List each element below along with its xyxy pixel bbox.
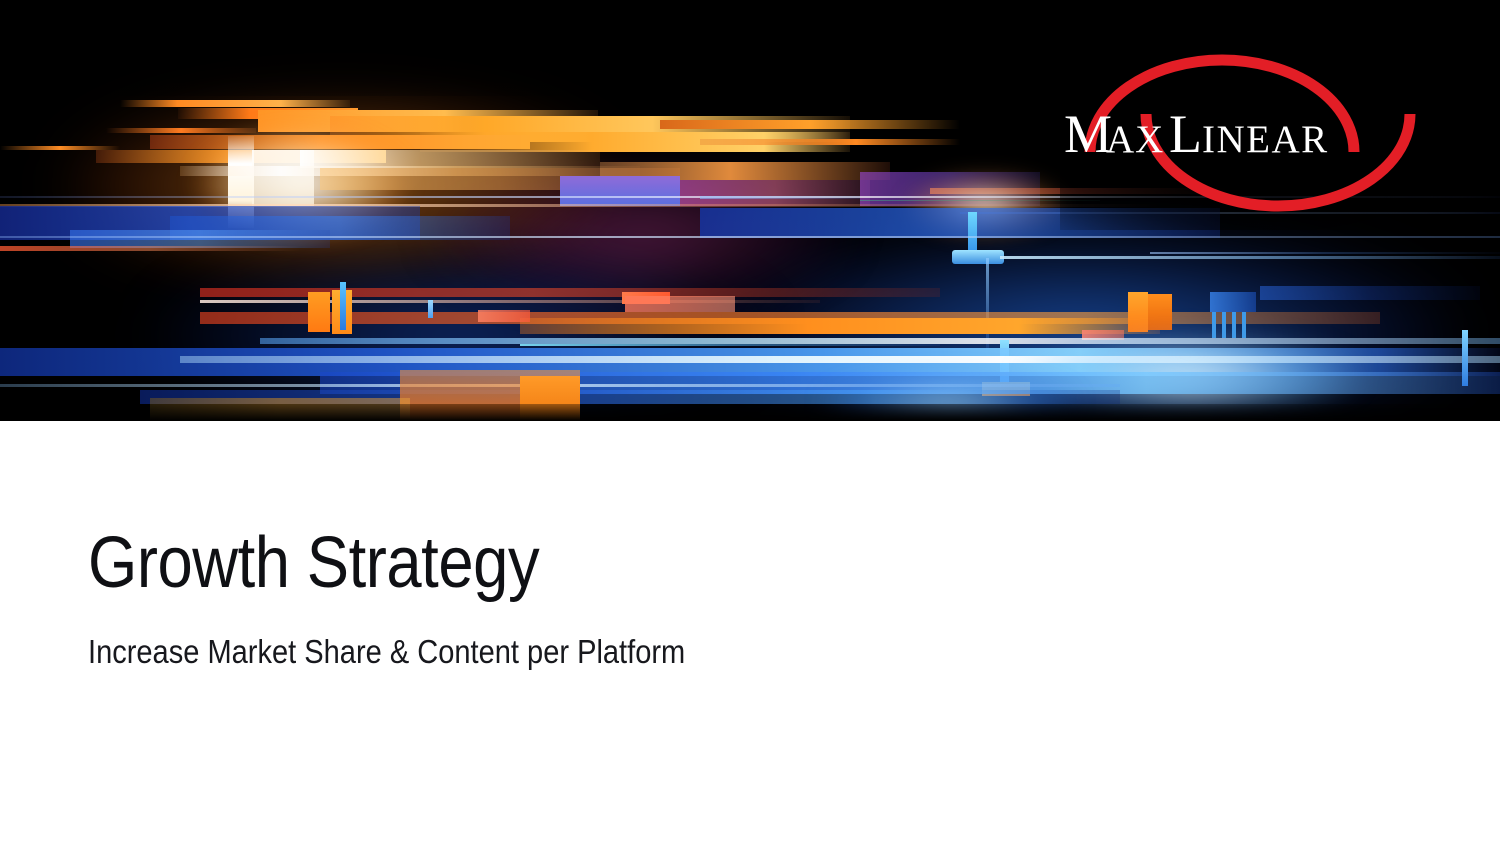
streak xyxy=(150,135,530,149)
streak xyxy=(140,390,1120,404)
streak xyxy=(308,292,330,332)
streak xyxy=(1222,312,1226,338)
glow-hotspot-core xyxy=(196,128,406,238)
streak xyxy=(0,384,1120,387)
streak xyxy=(252,150,314,206)
streak xyxy=(258,110,598,132)
streak xyxy=(0,404,1500,421)
streak xyxy=(1242,312,1246,338)
streak xyxy=(680,180,870,206)
glow-blue-right xyxy=(700,230,1460,421)
streak xyxy=(1210,292,1256,312)
glow-magenta xyxy=(430,170,850,300)
streak xyxy=(228,136,254,228)
streak xyxy=(0,348,1500,376)
streak xyxy=(1260,286,1480,300)
streak xyxy=(1150,252,1500,254)
page-title: Growth Strategy xyxy=(88,521,1144,605)
streak xyxy=(170,216,510,240)
streak xyxy=(1462,330,1468,386)
streak xyxy=(332,290,352,334)
streak xyxy=(200,300,820,303)
glow-cyan-low xyxy=(820,374,1080,421)
streak xyxy=(700,196,860,199)
streak xyxy=(320,168,680,190)
streak xyxy=(1232,312,1236,338)
streak xyxy=(106,128,256,133)
page-subtitle: Increase Market Share & Content per Plat… xyxy=(88,605,1144,673)
streak xyxy=(320,372,1500,394)
streak xyxy=(520,318,1160,334)
glow-cyan-bright xyxy=(1020,336,1360,416)
streak xyxy=(180,166,640,176)
streak xyxy=(1000,340,1009,382)
streak xyxy=(0,206,420,240)
streak xyxy=(700,139,960,145)
streak xyxy=(300,150,600,168)
glow-hotspot-right xyxy=(900,170,1070,240)
streak xyxy=(180,356,1500,363)
streak xyxy=(986,258,989,350)
streak xyxy=(860,172,1040,206)
streak xyxy=(1148,294,1172,330)
streak xyxy=(622,292,670,304)
logo-wordmark-l: L xyxy=(1169,104,1203,164)
streak xyxy=(428,300,433,318)
banner-image: M AX L INEAR xyxy=(0,0,1500,421)
streak xyxy=(1128,292,1148,332)
title-block: Growth Strategy Increase Market Share & … xyxy=(88,521,1288,673)
streak xyxy=(200,312,1380,324)
streak xyxy=(400,370,580,421)
streak xyxy=(982,382,1030,396)
streak xyxy=(0,146,120,150)
logo-wordmark-inear: INEAR xyxy=(1202,118,1329,161)
streak xyxy=(0,204,1160,207)
glow-orange-left xyxy=(60,90,620,280)
streak xyxy=(478,310,530,322)
streak xyxy=(200,288,940,297)
streak xyxy=(560,176,680,206)
streak xyxy=(520,344,940,346)
glow-blue-left xyxy=(150,250,770,420)
streak xyxy=(1212,312,1216,338)
streak xyxy=(330,116,850,142)
streak xyxy=(952,250,1004,264)
streak xyxy=(660,120,960,129)
streak xyxy=(520,376,580,421)
streak xyxy=(0,246,300,251)
streak xyxy=(340,282,346,330)
maxlinear-logo: M AX L INEAR xyxy=(1060,48,1440,216)
streak xyxy=(1000,256,1500,259)
streak xyxy=(1082,330,1124,340)
streak xyxy=(150,398,410,421)
streak xyxy=(968,212,977,258)
streak xyxy=(120,100,350,107)
streak xyxy=(0,236,1500,238)
slide-root: M AX L INEAR Growth Strategy Increase Ma… xyxy=(0,0,1500,844)
streak xyxy=(420,132,850,152)
logo-wordmark-ax: AX xyxy=(1106,118,1164,161)
streak xyxy=(178,108,358,119)
streak xyxy=(70,230,330,248)
streak xyxy=(625,296,735,312)
streak xyxy=(600,162,890,180)
streak xyxy=(260,338,1500,344)
streak xyxy=(96,150,386,163)
